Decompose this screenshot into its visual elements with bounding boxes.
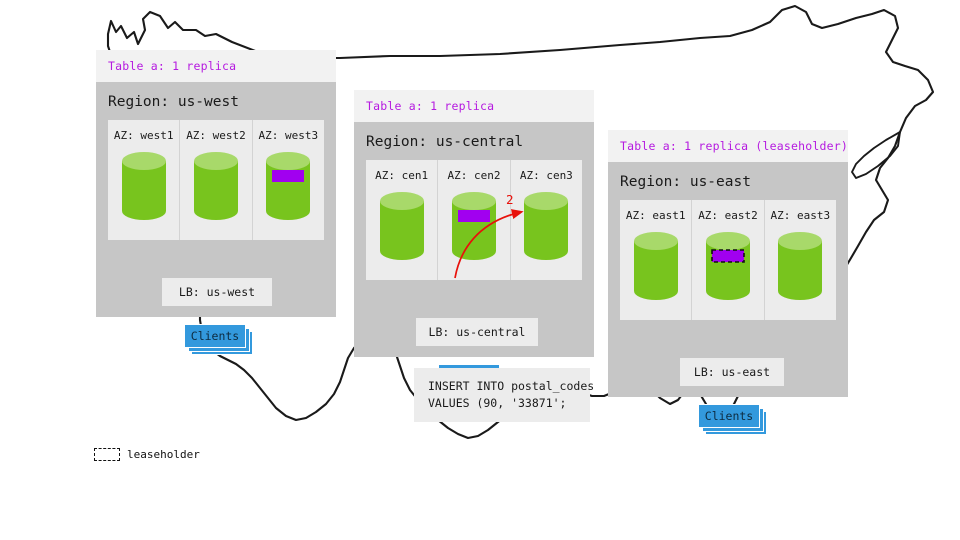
az-strip-us-west: AZ: west1 AZ: west2 bbox=[108, 120, 324, 240]
step-number-2: 2 bbox=[506, 192, 514, 207]
region-panel-us-east: Table a: 1 replica (leaseholder) Region:… bbox=[608, 130, 848, 397]
az-label-cen1: AZ: cen1 bbox=[375, 169, 428, 182]
clients-sheet-front[interactable]: Clients bbox=[698, 404, 760, 428]
lb-box-us-east[interactable]: LB: us-east bbox=[680, 358, 784, 386]
az-cell-cen2[interactable]: AZ: cen2 bbox=[437, 160, 509, 280]
replica-marker-cen2 bbox=[458, 210, 490, 222]
az-label-east3: AZ: east3 bbox=[771, 209, 831, 222]
az-cell-east3[interactable]: AZ: east3 bbox=[764, 200, 836, 320]
lb-box-us-central[interactable]: LB: us-central bbox=[416, 318, 538, 346]
az-cell-cen3[interactable]: AZ: cen3 bbox=[510, 160, 582, 280]
region-panel-us-west: Table a: 1 replica Region: us-west AZ: w… bbox=[96, 50, 336, 317]
sql-line-1: INSERT INTO postal_codes bbox=[428, 378, 576, 395]
dashed-rect-icon bbox=[94, 448, 120, 461]
cylinder-cen3 bbox=[522, 190, 570, 262]
az-label-east2: AZ: east2 bbox=[698, 209, 758, 222]
panel-title-us-west: Table a: 1 replica bbox=[96, 50, 336, 82]
az-label-west1: AZ: west1 bbox=[114, 129, 174, 142]
diagram-canvas: Table a: 1 replica Region: us-west AZ: w… bbox=[0, 0, 960, 540]
az-cell-west3[interactable]: AZ: west3 bbox=[252, 120, 324, 240]
az-cell-cen1[interactable]: AZ: cen1 bbox=[366, 160, 437, 280]
sql-statement-box: INSERT INTO postal_codes VALUES (90, '33… bbox=[414, 368, 590, 422]
replica-marker-east2 bbox=[712, 250, 744, 262]
cylinder-west2 bbox=[192, 150, 240, 222]
cylinder-cen1 bbox=[378, 190, 426, 262]
cylinder-east2 bbox=[704, 230, 752, 302]
clients-us-east[interactable]: Clients bbox=[698, 404, 760, 428]
panel-title-us-east: Table a: 1 replica (leaseholder) bbox=[608, 130, 848, 162]
region-panel-us-central: Table a: 1 replica Region: us-central AZ… bbox=[354, 90, 594, 357]
replica-marker-west3 bbox=[272, 170, 304, 182]
legend-label: leaseholder bbox=[127, 448, 200, 461]
az-label-west2: AZ: west2 bbox=[186, 129, 246, 142]
region-label-us-central: Region: us-central bbox=[354, 122, 594, 160]
az-label-cen2: AZ: cen2 bbox=[448, 169, 501, 182]
az-cell-east1[interactable]: AZ: east1 bbox=[620, 200, 691, 320]
clients-label-us-east: Clients bbox=[705, 409, 753, 423]
az-label-east1: AZ: east1 bbox=[626, 209, 686, 222]
clients-label-us-west: Clients bbox=[191, 329, 239, 343]
clients-sheet-front[interactable]: Clients bbox=[184, 324, 246, 348]
cylinder-west1 bbox=[120, 150, 168, 222]
cylinder-east1 bbox=[632, 230, 680, 302]
az-cell-west1[interactable]: AZ: west1 bbox=[108, 120, 179, 240]
az-label-cen3: AZ: cen3 bbox=[520, 169, 573, 182]
az-label-west3: AZ: west3 bbox=[259, 129, 319, 142]
az-cell-east2[interactable]: AZ: east2 bbox=[691, 200, 763, 320]
sql-line-2: VALUES (90, '33871'; bbox=[428, 395, 576, 412]
lb-box-us-west[interactable]: LB: us-west bbox=[162, 278, 272, 306]
az-strip-us-central: AZ: cen1 AZ: cen2 bbox=[366, 160, 582, 280]
cylinder-east3 bbox=[776, 230, 824, 302]
clients-us-west[interactable]: Clients bbox=[184, 324, 246, 348]
az-strip-us-east: AZ: east1 AZ: east2 bbox=[620, 200, 836, 320]
legend: leaseholder bbox=[94, 448, 200, 461]
region-label-us-west: Region: us-west bbox=[96, 82, 336, 120]
az-cell-west2[interactable]: AZ: west2 bbox=[179, 120, 251, 240]
panel-title-us-central: Table a: 1 replica bbox=[354, 90, 594, 122]
region-label-us-east: Region: us-east bbox=[608, 162, 848, 200]
cylinder-cen2 bbox=[450, 190, 498, 262]
cylinder-west3 bbox=[264, 150, 312, 222]
